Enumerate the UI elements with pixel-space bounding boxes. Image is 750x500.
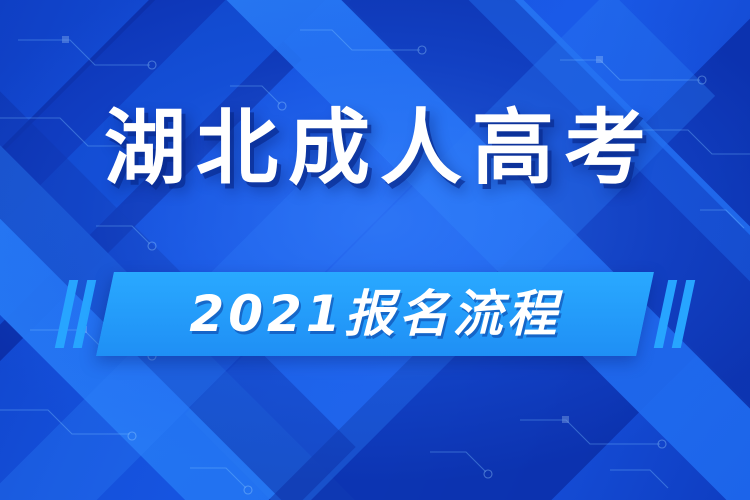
promo-banner: 湖北成人高考 2021报名流程: [0, 0, 750, 500]
sub-title: 2021报名流程: [189, 289, 560, 339]
main-title: 湖北成人高考: [94, 108, 656, 190]
ribbon-tick-left-inner: [73, 280, 96, 348]
subtitle-ribbon: 2021报名流程: [60, 272, 690, 356]
title-block: 湖北成人高考: [0, 108, 750, 190]
tech-circuit-lines: [0, 0, 750, 500]
